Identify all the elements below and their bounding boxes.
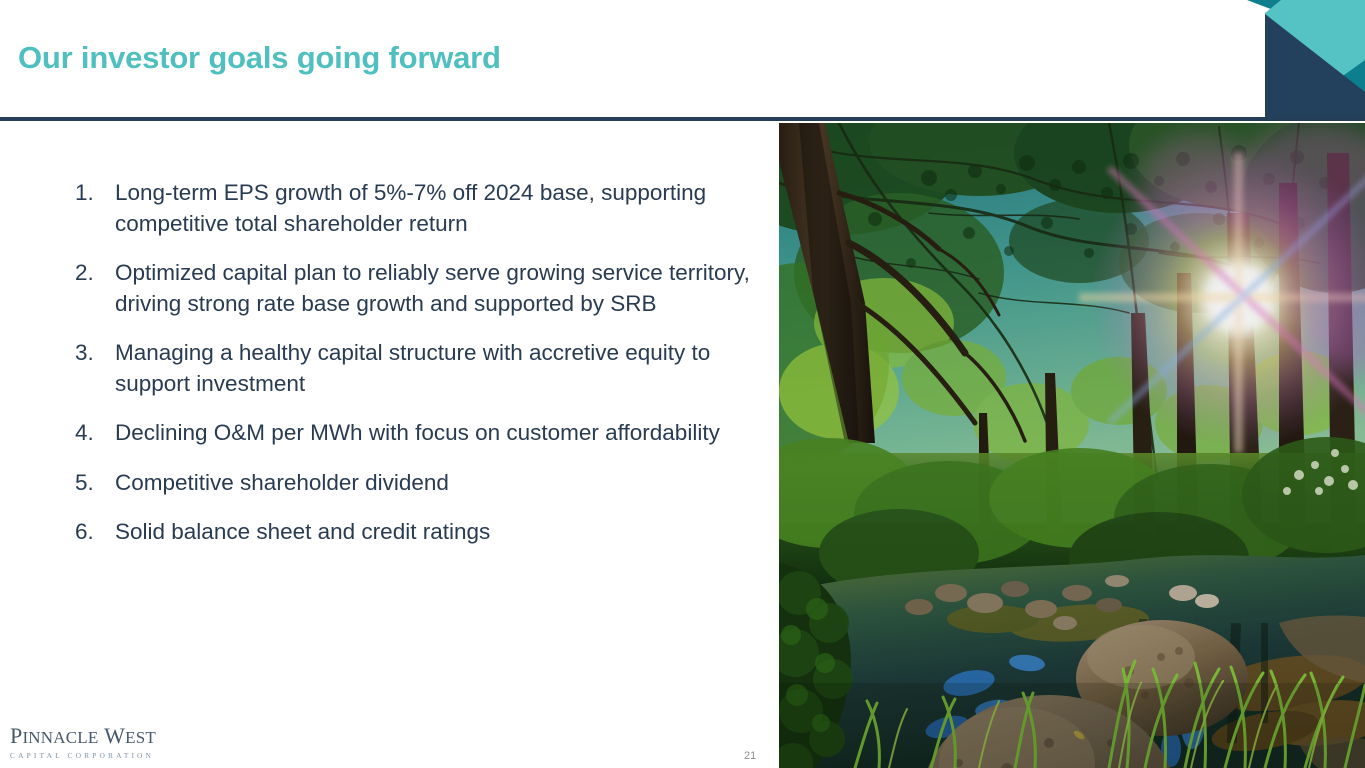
list-item-number: 5. bbox=[74, 468, 115, 499]
logo-subtitle: CAPITAL CORPORATION bbox=[10, 751, 190, 760]
list-item: 3. Managing a healthy capital structure … bbox=[74, 338, 764, 399]
logo-text-innacle: INNACLE bbox=[22, 728, 98, 747]
list-item: 4. Declining O&M per MWh with focus on c… bbox=[74, 418, 764, 449]
forest-creek-photo bbox=[779, 123, 1365, 768]
list-item: 6. Solid balance sheet and credit rating… bbox=[74, 517, 764, 548]
list-item: 5. Competitive shareholder dividend bbox=[74, 468, 764, 499]
corner-decoration-graphic bbox=[1235, 0, 1365, 119]
list-item-text: Declining O&M per MWh with focus on cust… bbox=[115, 418, 764, 449]
corner-triangles-icon bbox=[1235, 0, 1365, 119]
logo-letter-p: P bbox=[10, 723, 22, 748]
list-item-text: Managing a healthy capital structure wit… bbox=[115, 338, 764, 399]
list-item-text: Optimized capital plan to reliably serve… bbox=[115, 258, 764, 319]
list-item-number: 1. bbox=[74, 178, 115, 209]
logo-wordmark: PINNACLE WEST bbox=[10, 724, 190, 749]
forest-creek-illustration bbox=[779, 123, 1365, 768]
list-item-number: 2. bbox=[74, 258, 115, 289]
list-item-number: 4. bbox=[74, 418, 115, 449]
list-item-text: Competitive shareholder dividend bbox=[115, 468, 764, 499]
slide-header: Our investor goals going forward bbox=[0, 0, 1365, 119]
page-number: 21 bbox=[744, 750, 756, 762]
slide-canvas: Our investor goals going forward 1. Long… bbox=[0, 0, 1365, 768]
logo-text-est: EST bbox=[125, 728, 156, 747]
content-pane: 1. Long-term EPS growth of 5%-7% off 202… bbox=[0, 121, 779, 768]
list-item-text: Long-term EPS growth of 5%-7% off 2024 b… bbox=[115, 178, 764, 239]
list-item-text: Solid balance sheet and credit ratings bbox=[115, 517, 764, 548]
pinnacle-west-logo: PINNACLE WEST CAPITAL CORPORATION bbox=[10, 724, 190, 760]
list-item-number: 6. bbox=[74, 517, 115, 548]
page-title: Our investor goals going forward bbox=[18, 40, 501, 76]
list-item: 1. Long-term EPS growth of 5%-7% off 202… bbox=[74, 178, 764, 239]
investor-goals-list: 1. Long-term EPS growth of 5%-7% off 202… bbox=[74, 178, 764, 567]
logo-letter-w: W bbox=[104, 723, 125, 748]
list-item-number: 3. bbox=[74, 338, 115, 369]
list-item: 2. Optimized capital plan to reliably se… bbox=[74, 258, 764, 319]
